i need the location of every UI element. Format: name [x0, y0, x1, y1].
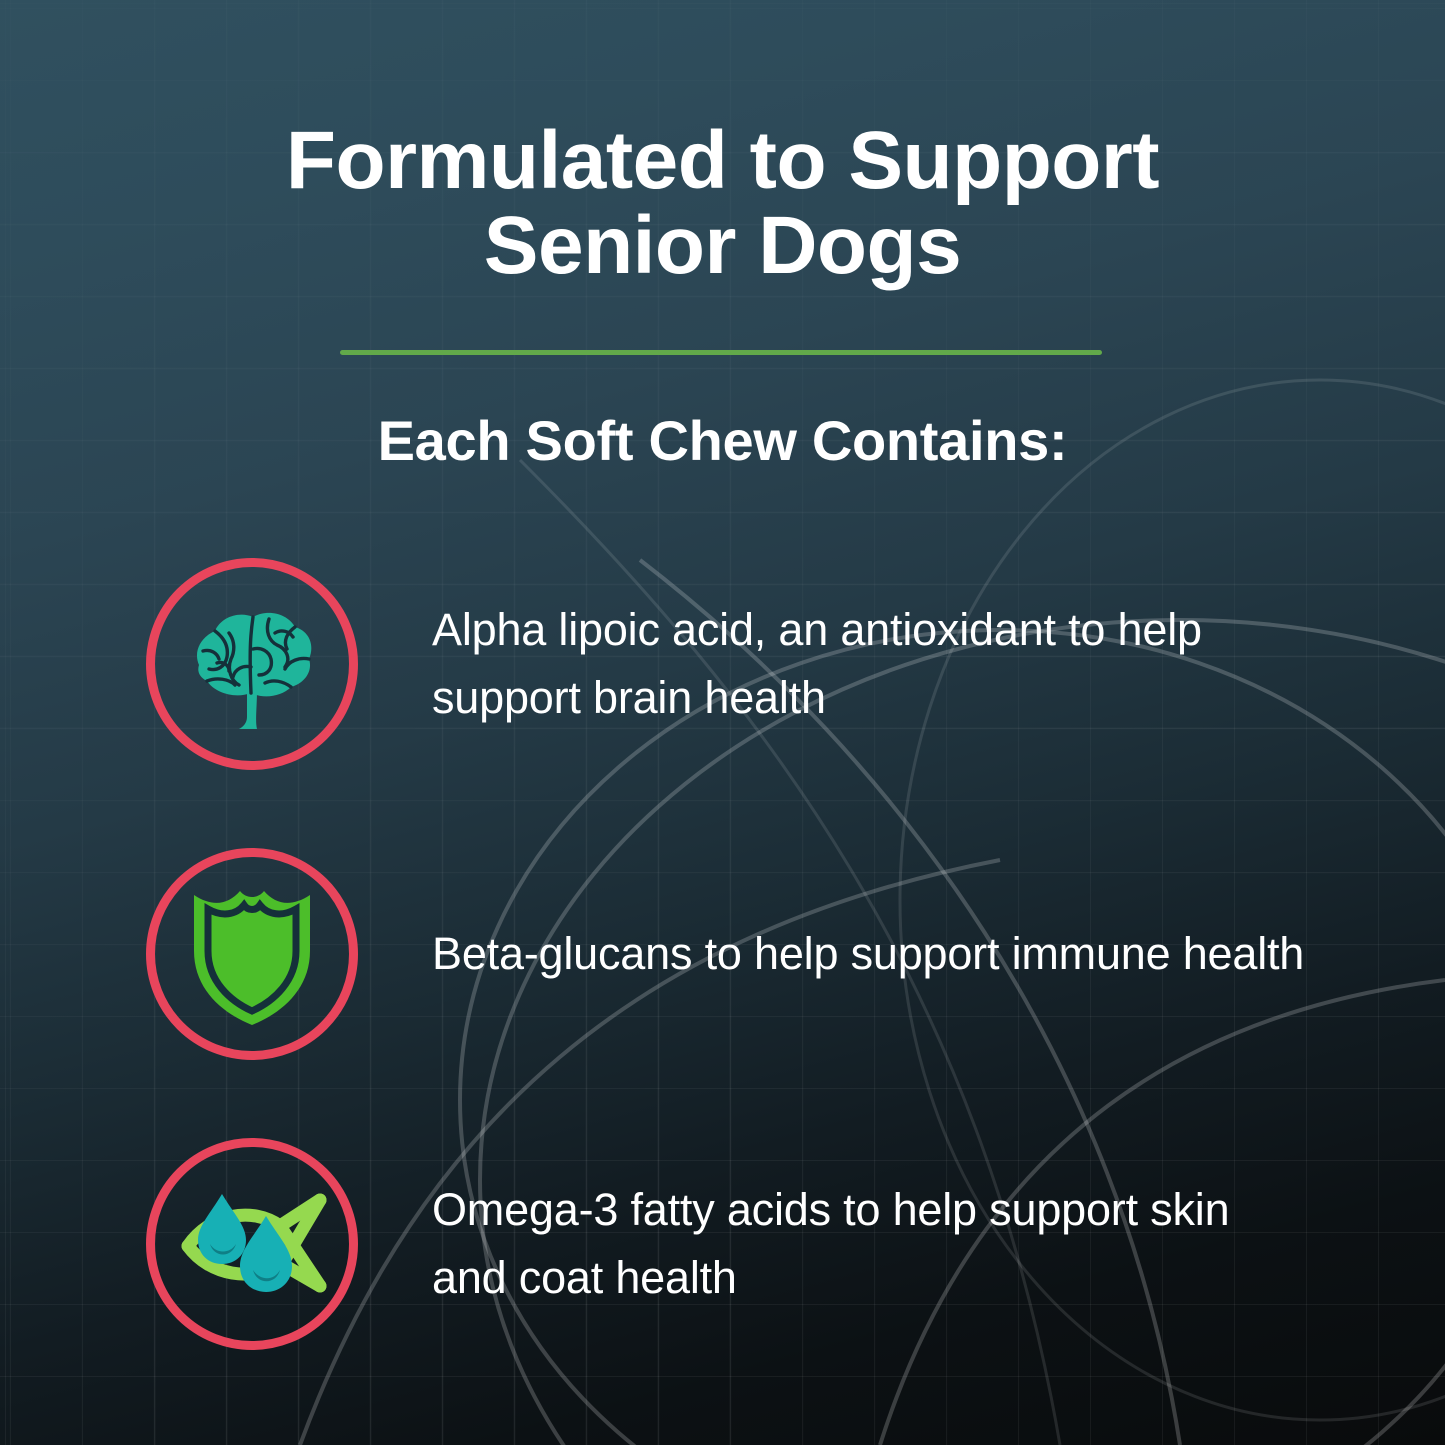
fish-oil-icon: [174, 1180, 330, 1308]
feature-text: Alpha lipoic acid, an antioxidant to hel…: [432, 596, 1312, 733]
section-subtitle: Each Soft Chew Contains:: [0, 408, 1445, 473]
feature-text: Omega-3 fatty acids to help support skin…: [432, 1176, 1312, 1313]
list-item: Omega-3 fatty acids to help support skin…: [0, 1128, 1445, 1360]
page-title: Formulated to Support Senior Dogs: [0, 118, 1445, 289]
shield-icon: [182, 879, 322, 1029]
infographic-canvas: Formulated to Support Senior Dogs Each S…: [0, 0, 1445, 1445]
icon-badge-brain: [146, 558, 358, 770]
feature-text: Beta-glucans to help support immune heal…: [432, 920, 1304, 988]
icon-badge-fish-oil: [146, 1138, 358, 1350]
feature-list: Alpha lipoic acid, an antioxidant to hel…: [0, 548, 1445, 1418]
list-item: Beta-glucans to help support immune heal…: [0, 838, 1445, 1070]
brain-icon: [177, 589, 327, 739]
icon-badge-shield: [146, 848, 358, 1060]
list-item: Alpha lipoic acid, an antioxidant to hel…: [0, 548, 1445, 780]
divider-line: [340, 350, 1102, 355]
header: Formulated to Support Senior Dogs: [0, 118, 1445, 289]
